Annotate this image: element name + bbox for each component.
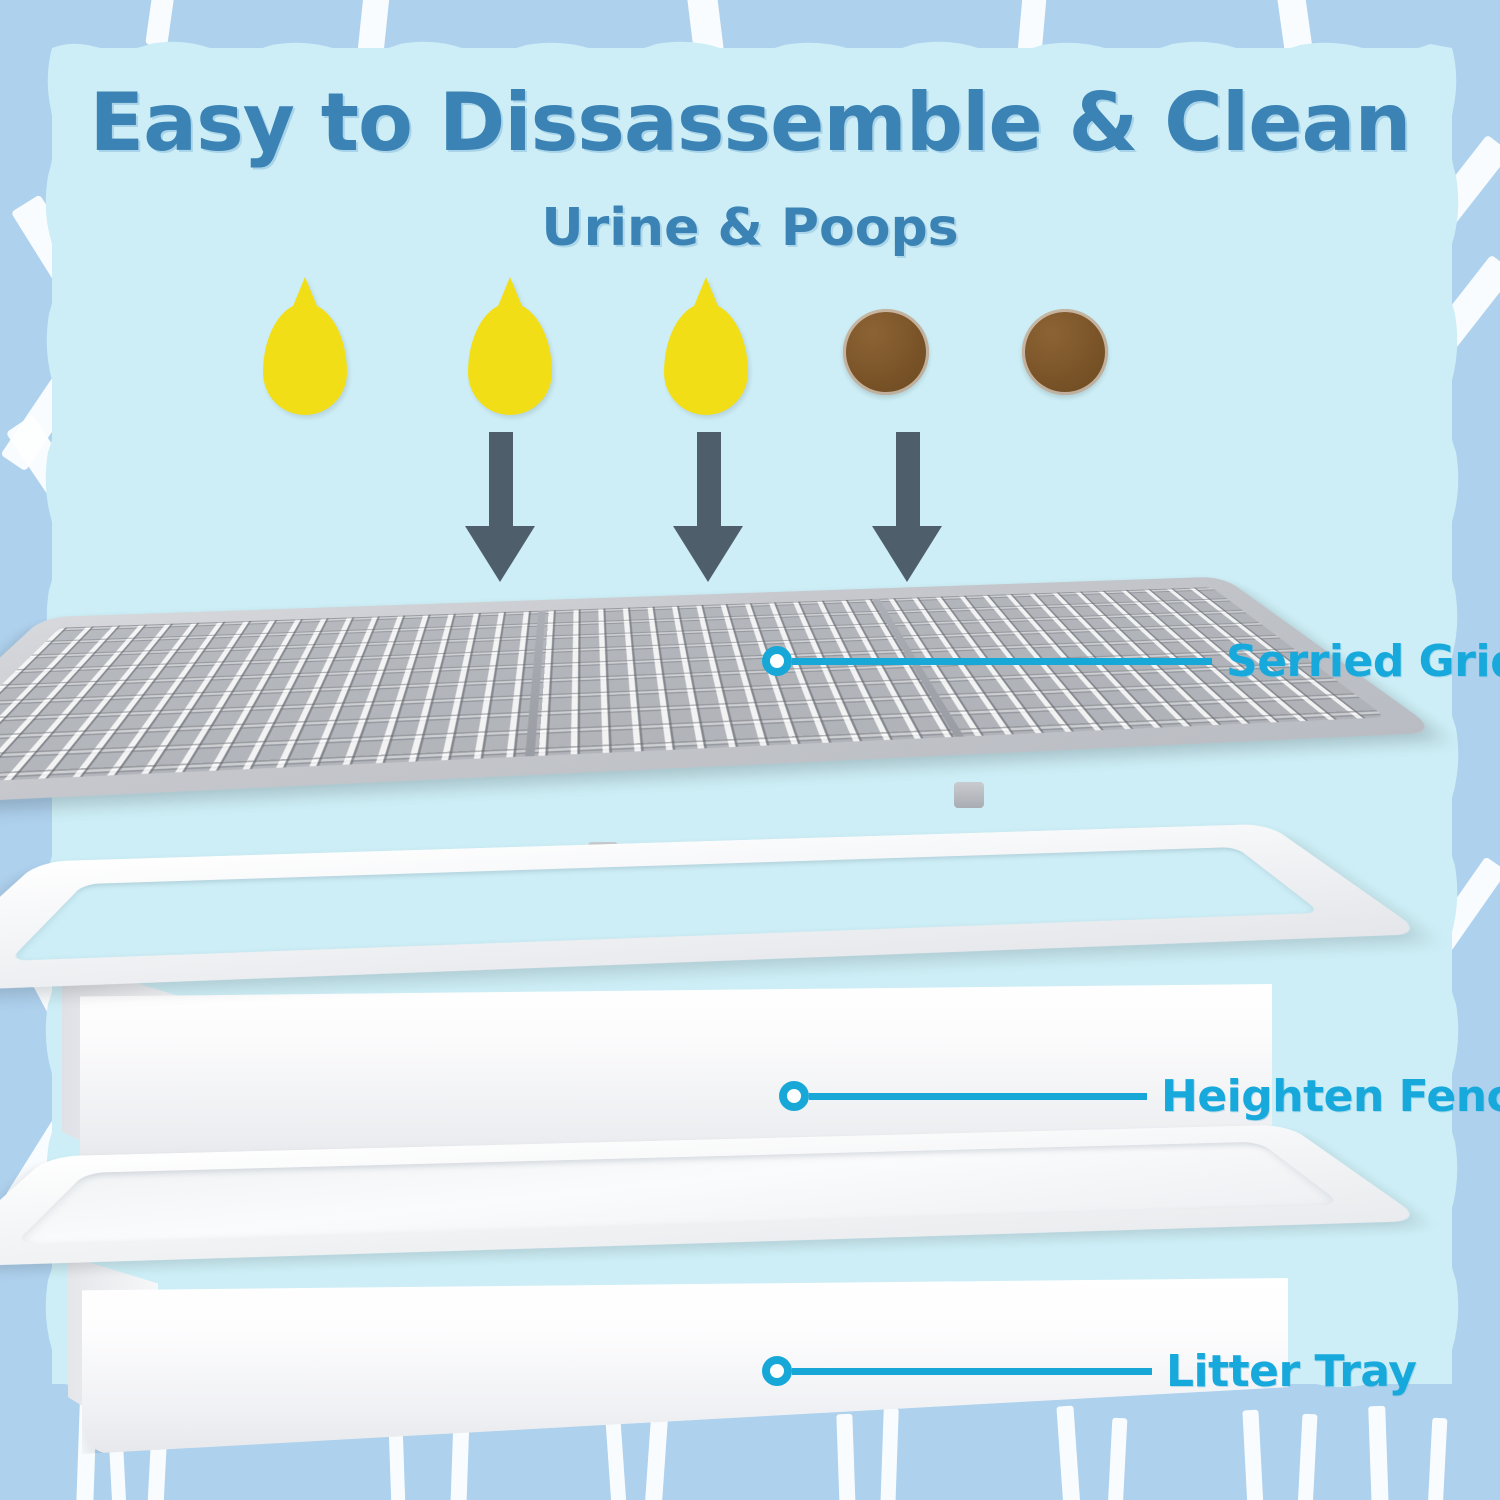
callout-label: Heighten Fence: [1161, 1071, 1500, 1122]
grid-foot: [954, 782, 984, 808]
grid-plate: [0, 577, 1440, 808]
down-arrow-icon: [465, 432, 535, 582]
callout-label: Litter Tray: [1166, 1346, 1416, 1397]
arrow-shaft: [697, 432, 721, 532]
callout-leader-line: [792, 658, 1212, 665]
callout-label: Serried Grid: [1226, 636, 1500, 687]
callout-serried-grid[interactable]: Serried Grid: [762, 639, 1500, 683]
arrow-head: [673, 526, 743, 582]
fence-top-rim: [0, 824, 1424, 993]
callout-marker-icon: [762, 1356, 792, 1386]
grid-plate-body: [0, 577, 1440, 808]
down-arrow-icon: [872, 432, 942, 582]
callout-heighten-fence[interactable]: Heighten Fence: [779, 1074, 1500, 1118]
poop-icon: [1022, 309, 1108, 395]
fence-top-rim-wrap: [0, 824, 1424, 993]
callout-leader-line: [792, 1368, 1152, 1375]
callout-marker-icon: [762, 646, 792, 676]
arrow-head: [465, 526, 535, 582]
callout-marker-icon: [779, 1081, 809, 1111]
grid-mesh-shading: [0, 587, 1386, 785]
litter-tray-part: [68, 1140, 1308, 1470]
infographic-canvas: Easy to Dissassemble & Clean Urine & Poo…: [0, 0, 1500, 1500]
arrow-head: [872, 526, 942, 582]
fence-opening: [9, 847, 1321, 961]
callout-leader-line: [809, 1093, 1147, 1100]
arrow-shaft: [489, 432, 513, 532]
tray-basin: [14, 1142, 1342, 1245]
border-brush-stroke: [1368, 1406, 1389, 1500]
page-subtitle: Urine & Poops: [0, 198, 1500, 258]
down-arrow-icon: [673, 432, 743, 582]
page-title: Easy to Dissassemble & Clean: [0, 76, 1500, 169]
tray-top-rim: [0, 1125, 1424, 1268]
tray-top-rim-wrap: [0, 1125, 1424, 1268]
arrow-shaft: [896, 432, 920, 532]
poop-icon: [843, 309, 929, 395]
callout-litter-tray[interactable]: Litter Tray: [762, 1349, 1416, 1393]
